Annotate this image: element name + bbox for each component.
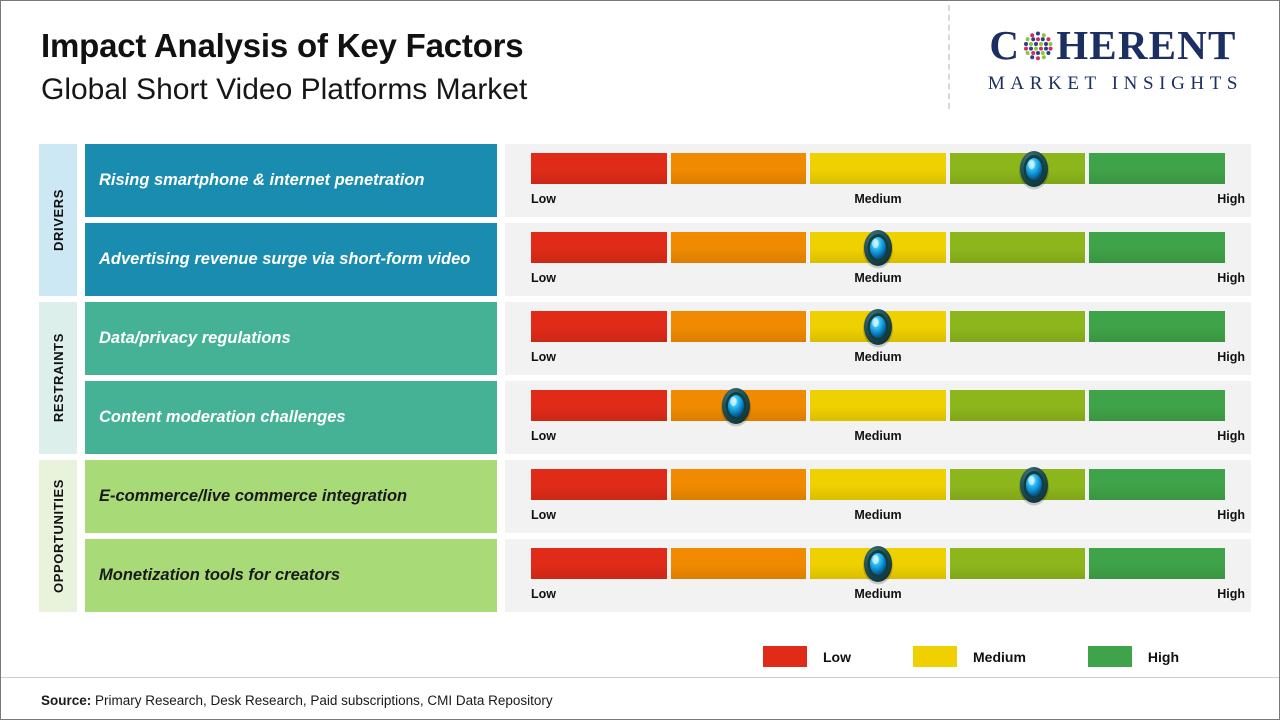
factor-label[interactable]: Monetization tools for creators — [85, 539, 497, 612]
gauge-segment-1 — [531, 548, 667, 579]
impact-matrix: DRIVERSRising smartphone & internet pene… — [39, 144, 1251, 618]
gauge-segment-4 — [950, 390, 1086, 421]
scale-tick-med: Medium — [531, 587, 1225, 601]
footer-divider — [1, 677, 1279, 678]
gauge-segment-2 — [671, 469, 807, 500]
legend-swatch — [763, 646, 807, 667]
category-label-restraints: RESTRAINTS — [39, 302, 77, 454]
gauge-scale: LowMediumHigh — [531, 505, 1225, 527]
gauge-scale: LowMediumHigh — [531, 268, 1225, 290]
category-rows: Rising smartphone & internet penetration… — [85, 144, 1251, 296]
factor-row: E-commerce/live commerce integrationLowM… — [85, 460, 1251, 533]
gauge-segment-5 — [1089, 469, 1225, 500]
scale-tick-med: Medium — [531, 429, 1225, 443]
gauge-scale: LowMediumHigh — [531, 189, 1225, 211]
gauge-segment-1 — [531, 153, 667, 184]
legend-swatch — [913, 646, 957, 667]
category-label-text: OPPORTUNITIES — [51, 479, 66, 593]
source-label: Source: — [41, 693, 91, 708]
category-rows: E-commerce/live commerce integrationLowM… — [85, 460, 1251, 612]
gauge-segment-3 — [810, 311, 946, 342]
gauge-segment-4 — [950, 153, 1086, 184]
category-label-text: DRIVERS — [51, 189, 66, 251]
gauge-track — [531, 311, 1225, 342]
source-note: Source: Primary Research, Desk Research,… — [41, 693, 553, 708]
gauge-segment-5 — [1089, 390, 1225, 421]
slide-root: Impact Analysis of Key Factors Global Sh… — [0, 0, 1280, 720]
factor-row: Content moderation challengesLowMediumHi… — [85, 381, 1251, 454]
gauge-segment-1 — [531, 232, 667, 263]
legend-label: Low — [823, 649, 851, 665]
page-subtitle: Global Short Video Platforms Market — [41, 72, 527, 108]
factor-row: Data/privacy regulationsLowMediumHigh — [85, 302, 1251, 375]
gauge-segment-2 — [671, 390, 807, 421]
gauge-segment-5 — [1089, 311, 1225, 342]
gauge-segment-3 — [810, 469, 946, 500]
scale-tick-med: Medium — [531, 192, 1225, 206]
category-label-text: RESTRAINTS — [51, 333, 66, 422]
logo-text-after: HERENT — [1056, 25, 1236, 66]
page-title: Impact Analysis of Key Factors — [41, 27, 527, 66]
scale-tick-high: High — [1217, 429, 1245, 443]
impact-gauge: LowMediumHigh — [505, 223, 1251, 296]
legend-item-medium: Medium — [913, 646, 1026, 667]
gauge-segment-1 — [531, 390, 667, 421]
category-group-opportunities: OPPORTUNITIESE-commerce/live commerce in… — [39, 460, 1251, 612]
gauge-segment-4 — [950, 548, 1086, 579]
legend: LowMediumHigh — [763, 646, 1179, 667]
factor-row: Monetization tools for creatorsLowMedium… — [85, 539, 1251, 612]
category-rows: Data/privacy regulationsLowMediumHighCon… — [85, 302, 1251, 454]
gauge-segment-3 — [810, 153, 946, 184]
gauge-segment-2 — [671, 153, 807, 184]
scale-tick-med: Medium — [531, 508, 1225, 522]
gauge-track — [531, 548, 1225, 579]
legend-label: High — [1148, 649, 1179, 665]
gauge-segment-5 — [1089, 232, 1225, 263]
factor-row: Advertising revenue surge via short-form… — [85, 223, 1251, 296]
gauge-segment-3 — [810, 232, 946, 263]
scale-tick-high: High — [1217, 587, 1245, 601]
impact-gauge: LowMediumHigh — [505, 460, 1251, 533]
category-group-drivers: DRIVERSRising smartphone & internet pene… — [39, 144, 1251, 296]
impact-gauge: LowMediumHigh — [505, 144, 1251, 217]
category-label-opportunities: OPPORTUNITIES — [39, 460, 77, 612]
legend-item-high: High — [1088, 646, 1179, 667]
gauge-segment-2 — [671, 232, 807, 263]
gauge-scale: LowMediumHigh — [531, 426, 1225, 448]
gauge-segment-5 — [1089, 548, 1225, 579]
gauge-segment-3 — [810, 548, 946, 579]
gauge-segment-1 — [531, 469, 667, 500]
legend-item-low: Low — [763, 646, 851, 667]
gauge-segment-2 — [671, 311, 807, 342]
scale-tick-med: Medium — [531, 271, 1225, 285]
gauge-segment-4 — [950, 469, 1086, 500]
legend-label: Medium — [973, 649, 1026, 665]
globe-icon — [1021, 29, 1055, 63]
scale-tick-med: Medium — [531, 350, 1225, 364]
factor-label[interactable]: Advertising revenue surge via short-form… — [85, 223, 497, 296]
impact-gauge: LowMediumHigh — [505, 302, 1251, 375]
gauge-track — [531, 390, 1225, 421]
logo-text-before: C — [989, 25, 1020, 66]
gauge-segment-4 — [950, 232, 1086, 263]
legend-swatch — [1088, 646, 1132, 667]
impact-gauge: LowMediumHigh — [505, 539, 1251, 612]
factor-row: Rising smartphone & internet penetration… — [85, 144, 1251, 217]
scale-tick-high: High — [1217, 508, 1245, 522]
company-logo: C — [963, 25, 1263, 95]
gauge-segment-4 — [950, 311, 1086, 342]
scale-tick-high: High — [1217, 192, 1245, 206]
gauge-segment-1 — [531, 311, 667, 342]
gauge-segment-5 — [1089, 153, 1225, 184]
category-group-restraints: RESTRAINTSData/privacy regulationsLowMed… — [39, 302, 1251, 454]
gauge-scale: LowMediumHigh — [531, 347, 1225, 369]
gauge-segment-3 — [810, 390, 946, 421]
factor-label[interactable]: Data/privacy regulations — [85, 302, 497, 375]
factor-label[interactable]: Rising smartphone & internet penetration — [85, 144, 497, 217]
source-text: Primary Research, Desk Research, Paid su… — [91, 693, 552, 708]
logo-tagline: MARKET INSIGHTS — [963, 73, 1263, 95]
logo-wordmark: C — [963, 25, 1263, 66]
gauge-track — [531, 469, 1225, 500]
category-label-drivers: DRIVERS — [39, 144, 77, 296]
scale-tick-high: High — [1217, 350, 1245, 364]
gauge-scale: LowMediumHigh — [531, 584, 1225, 606]
scale-tick-high: High — [1217, 271, 1245, 285]
page-header: Impact Analysis of Key Factors Global Sh… — [41, 27, 527, 108]
factor-label[interactable]: E-commerce/live commerce integration — [85, 460, 497, 533]
factor-label[interactable]: Content moderation challenges — [85, 381, 497, 454]
header-dashed-divider — [948, 5, 950, 109]
gauge-segment-2 — [671, 548, 807, 579]
gauge-track — [531, 153, 1225, 184]
gauge-track — [531, 232, 1225, 263]
impact-gauge: LowMediumHigh — [505, 381, 1251, 454]
